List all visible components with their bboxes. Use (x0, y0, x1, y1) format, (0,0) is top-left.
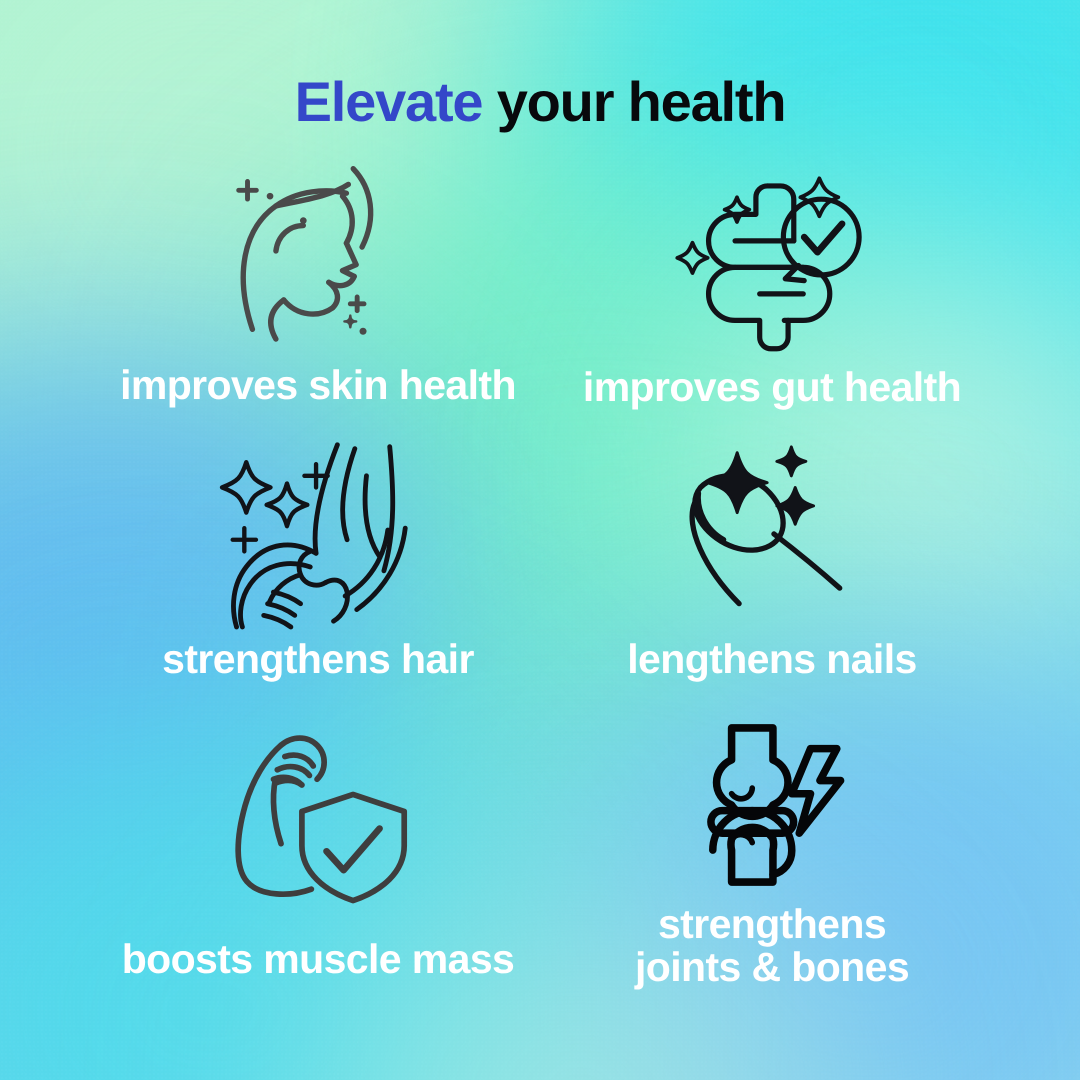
benefit-item-joints: strengthens joints & bones (502, 715, 1042, 990)
page-title-accent: Elevate (295, 70, 483, 133)
benefit-item-gut: improves gut health (502, 156, 1042, 409)
knee-joint-bolt-icon (502, 715, 1042, 895)
benefit-label-gut: improves gut health (502, 366, 1042, 409)
intestine-check-bubble-icon (502, 156, 1042, 356)
fingernail-sparkle-icon (502, 432, 1042, 632)
benefits-grid: improves skin health (0, 150, 1080, 1080)
benefit-item-nails: lengthens nails (502, 432, 1042, 681)
page-title: Elevate your health (0, 74, 1080, 130)
benefit-label-joints: strengthens joints & bones (502, 903, 1042, 990)
page-title-plain: your health (482, 70, 785, 133)
benefit-label-nails: lengthens nails (502, 638, 1042, 681)
poster-canvas: Elevate your health (0, 0, 1080, 1080)
